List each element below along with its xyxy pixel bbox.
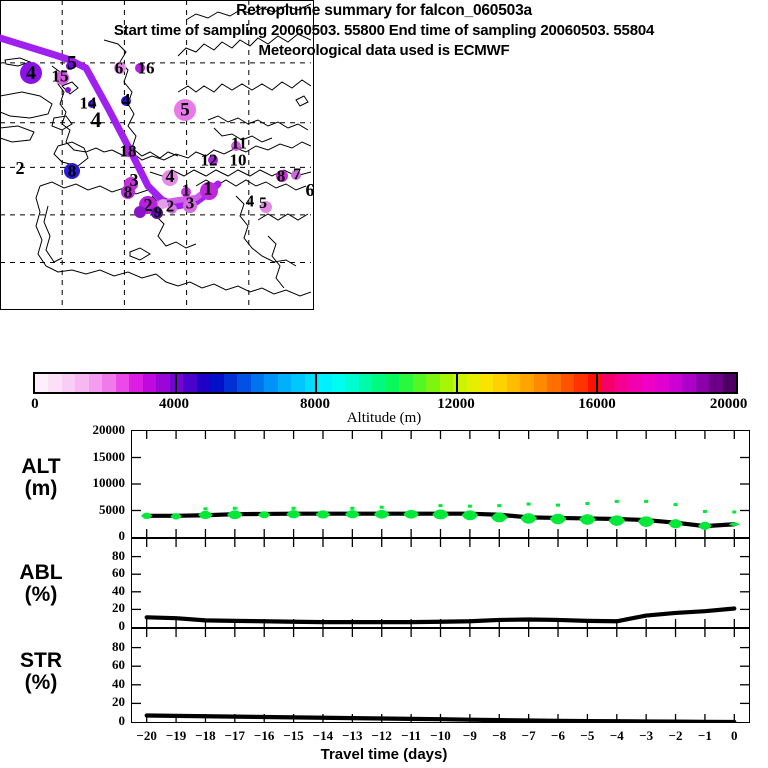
colorbar-segment xyxy=(480,374,493,392)
x-tick-label: −15 xyxy=(283,728,303,744)
colorbar-segment xyxy=(359,374,372,392)
colorbar-segment xyxy=(318,374,331,392)
x-tick-label: −4 xyxy=(610,728,624,744)
map-marker-label: 8 xyxy=(124,184,133,201)
abl-axis-label: ABL(%) xyxy=(4,562,78,606)
colorbar-segment xyxy=(628,374,641,392)
map-marker-label: 1 xyxy=(203,180,213,199)
map-marker-label: 5 xyxy=(180,101,190,120)
x-tick-label: −6 xyxy=(551,728,565,744)
map-plume-marker xyxy=(158,199,168,209)
colorbar-segment xyxy=(251,374,264,392)
colorbar-segment xyxy=(224,374,237,392)
colorbar-segment xyxy=(143,374,156,392)
map-marker-label: 15 xyxy=(52,68,69,85)
colorbar-segment xyxy=(669,374,682,392)
colorbar-segment xyxy=(723,374,736,392)
colorbar-segment xyxy=(642,374,655,392)
map-marker-label: 4 xyxy=(91,109,102,131)
colorbar-segment xyxy=(440,374,453,392)
y-tick-label: 40 xyxy=(77,676,125,692)
colorbar-segment xyxy=(372,374,385,392)
colorbar-segment xyxy=(561,374,574,392)
colorbar-segment xyxy=(413,374,426,392)
colorbar-segment xyxy=(210,374,223,392)
x-tick-label: −14 xyxy=(313,728,333,744)
colorbar-segment xyxy=(682,374,695,392)
colorbar-segment xyxy=(467,374,480,392)
x-tick-label: −18 xyxy=(195,728,215,744)
x-tick-label: −1 xyxy=(698,728,712,744)
axis-label-line: (%) xyxy=(4,584,78,606)
axis-label-line: (m) xyxy=(4,478,78,500)
axis-label-line: ABL xyxy=(4,562,78,584)
abl-panel xyxy=(131,538,750,628)
colorbar-divider xyxy=(175,374,177,392)
x-tick-label: −5 xyxy=(580,728,594,744)
map-marker-label: 5 xyxy=(67,53,77,73)
y-tick-label: 0 xyxy=(77,713,125,729)
colorbar-segment xyxy=(264,374,277,392)
y-tick-label: 20 xyxy=(77,600,125,616)
colorbar-divider xyxy=(596,374,598,392)
map-marker-label: 7 xyxy=(293,167,301,183)
map-marker-label: 18 xyxy=(120,143,137,160)
colorbar-segment xyxy=(156,374,169,392)
retroplume-map: 415561614445281811121038411876345229 xyxy=(0,0,314,310)
x-tick-label: −17 xyxy=(225,728,245,744)
map-marker-label: 6 xyxy=(306,181,315,199)
y-tick-label: 80 xyxy=(77,639,125,655)
x-tick-label: −20 xyxy=(136,728,156,744)
colorbar-segment xyxy=(507,374,520,392)
y-tick-label: 40 xyxy=(77,583,125,599)
x-tick-label: −12 xyxy=(372,728,392,744)
str-axis-label: STR(%) xyxy=(4,650,78,694)
map-marker-label: 11 xyxy=(231,135,247,152)
colorbar-segment xyxy=(386,374,399,392)
map-marker-label: 3 xyxy=(186,195,195,212)
colorbar-segment xyxy=(102,374,115,392)
x-tick-label: −16 xyxy=(254,728,274,744)
colorbar-segment xyxy=(89,374,102,392)
map-marker-label: 5 xyxy=(259,196,267,212)
abl-plot xyxy=(132,539,749,627)
colorbar-segment xyxy=(116,374,129,392)
colorbar-segment xyxy=(48,374,61,392)
colorbar-segment xyxy=(655,374,668,392)
map-marker-label: 16 xyxy=(138,60,155,77)
y-tick-label: 5000 xyxy=(77,502,125,518)
colorbar-divider xyxy=(315,374,317,392)
colorbar-segment xyxy=(197,374,210,392)
x-tick-label: −8 xyxy=(492,728,506,744)
y-tick-label: 60 xyxy=(77,657,125,673)
trajectory-path xyxy=(0,0,311,307)
colorbar-segment xyxy=(709,374,722,392)
x-tick-label: −3 xyxy=(639,728,653,744)
colorbar-segment xyxy=(183,374,196,392)
x-tick-label: −9 xyxy=(463,728,477,744)
colorbar-segment xyxy=(237,374,250,392)
x-tick-label: −11 xyxy=(401,728,421,744)
colorbar-segment xyxy=(696,374,709,392)
map-marker-label: 12 xyxy=(201,152,218,169)
x-axis-title: Travel time (days) xyxy=(0,746,768,763)
map-plume-marker xyxy=(134,206,146,218)
colorbar-segment xyxy=(520,374,533,392)
map-marker-label: 4 xyxy=(246,193,255,210)
colorbar-segment xyxy=(75,374,88,392)
altitude-panel xyxy=(131,430,750,538)
map-marker-label: 8 xyxy=(277,168,286,185)
colorbar-segment xyxy=(129,374,142,392)
colorbar-segment xyxy=(615,374,628,392)
y-tick-label: 80 xyxy=(77,548,125,564)
colorbar-segment xyxy=(291,374,304,392)
alt-axis-label: ALT(m) xyxy=(4,456,78,500)
y-tick-label: 0 xyxy=(77,618,125,634)
altitude-colorbar xyxy=(33,372,738,394)
colorbar-segment xyxy=(332,374,345,392)
axis-label-line: ALT xyxy=(4,456,78,478)
colorbar-segment xyxy=(35,374,48,392)
colorbar-segment xyxy=(399,374,412,392)
map-plume-marker xyxy=(65,87,71,93)
map-marker-label: 8 xyxy=(68,163,77,180)
str-panel xyxy=(131,628,750,723)
colorbar-divider xyxy=(456,374,458,392)
axis-label-line: STR xyxy=(4,650,78,672)
map-marker-label: 4 xyxy=(122,91,131,109)
x-tick-label: −10 xyxy=(430,728,450,744)
y-tick-label: 15000 xyxy=(77,449,125,465)
map-marker-label: 4 xyxy=(166,167,175,185)
colorbar-segment xyxy=(426,374,439,392)
colorbar-segment xyxy=(534,374,547,392)
axis-label-line: (%) xyxy=(4,672,78,694)
colorbar-segment xyxy=(547,374,560,392)
altitude-plot xyxy=(132,431,749,537)
x-tick-label: −2 xyxy=(669,728,683,744)
str-plot xyxy=(132,629,749,722)
map-marker-label: 4 xyxy=(26,63,36,83)
y-tick-label: 20 xyxy=(77,694,125,710)
colorbar-segment xyxy=(345,374,358,392)
map-marker-label: 10 xyxy=(230,152,247,169)
y-tick-label: 10000 xyxy=(77,475,125,491)
colorbar-segment xyxy=(588,374,601,392)
map-marker-label: 2 xyxy=(16,159,25,177)
colorbar-segment xyxy=(62,374,75,392)
y-tick-label: 20000 xyxy=(77,422,125,438)
altitude-distribution-cluster xyxy=(141,500,740,530)
y-tick-label: 60 xyxy=(77,565,125,581)
colorbar-segment xyxy=(601,374,614,392)
x-tick-label: −13 xyxy=(342,728,362,744)
y-tick-label: 0 xyxy=(77,528,125,544)
colorbar-segment xyxy=(493,374,506,392)
map-marker-label: 6 xyxy=(115,60,124,77)
x-tick-label: −7 xyxy=(522,728,536,744)
x-tick-label: −19 xyxy=(166,728,186,744)
colorbar-segment xyxy=(574,374,587,392)
colorbar-segment xyxy=(278,374,291,392)
x-tick-label: 0 xyxy=(731,728,738,744)
